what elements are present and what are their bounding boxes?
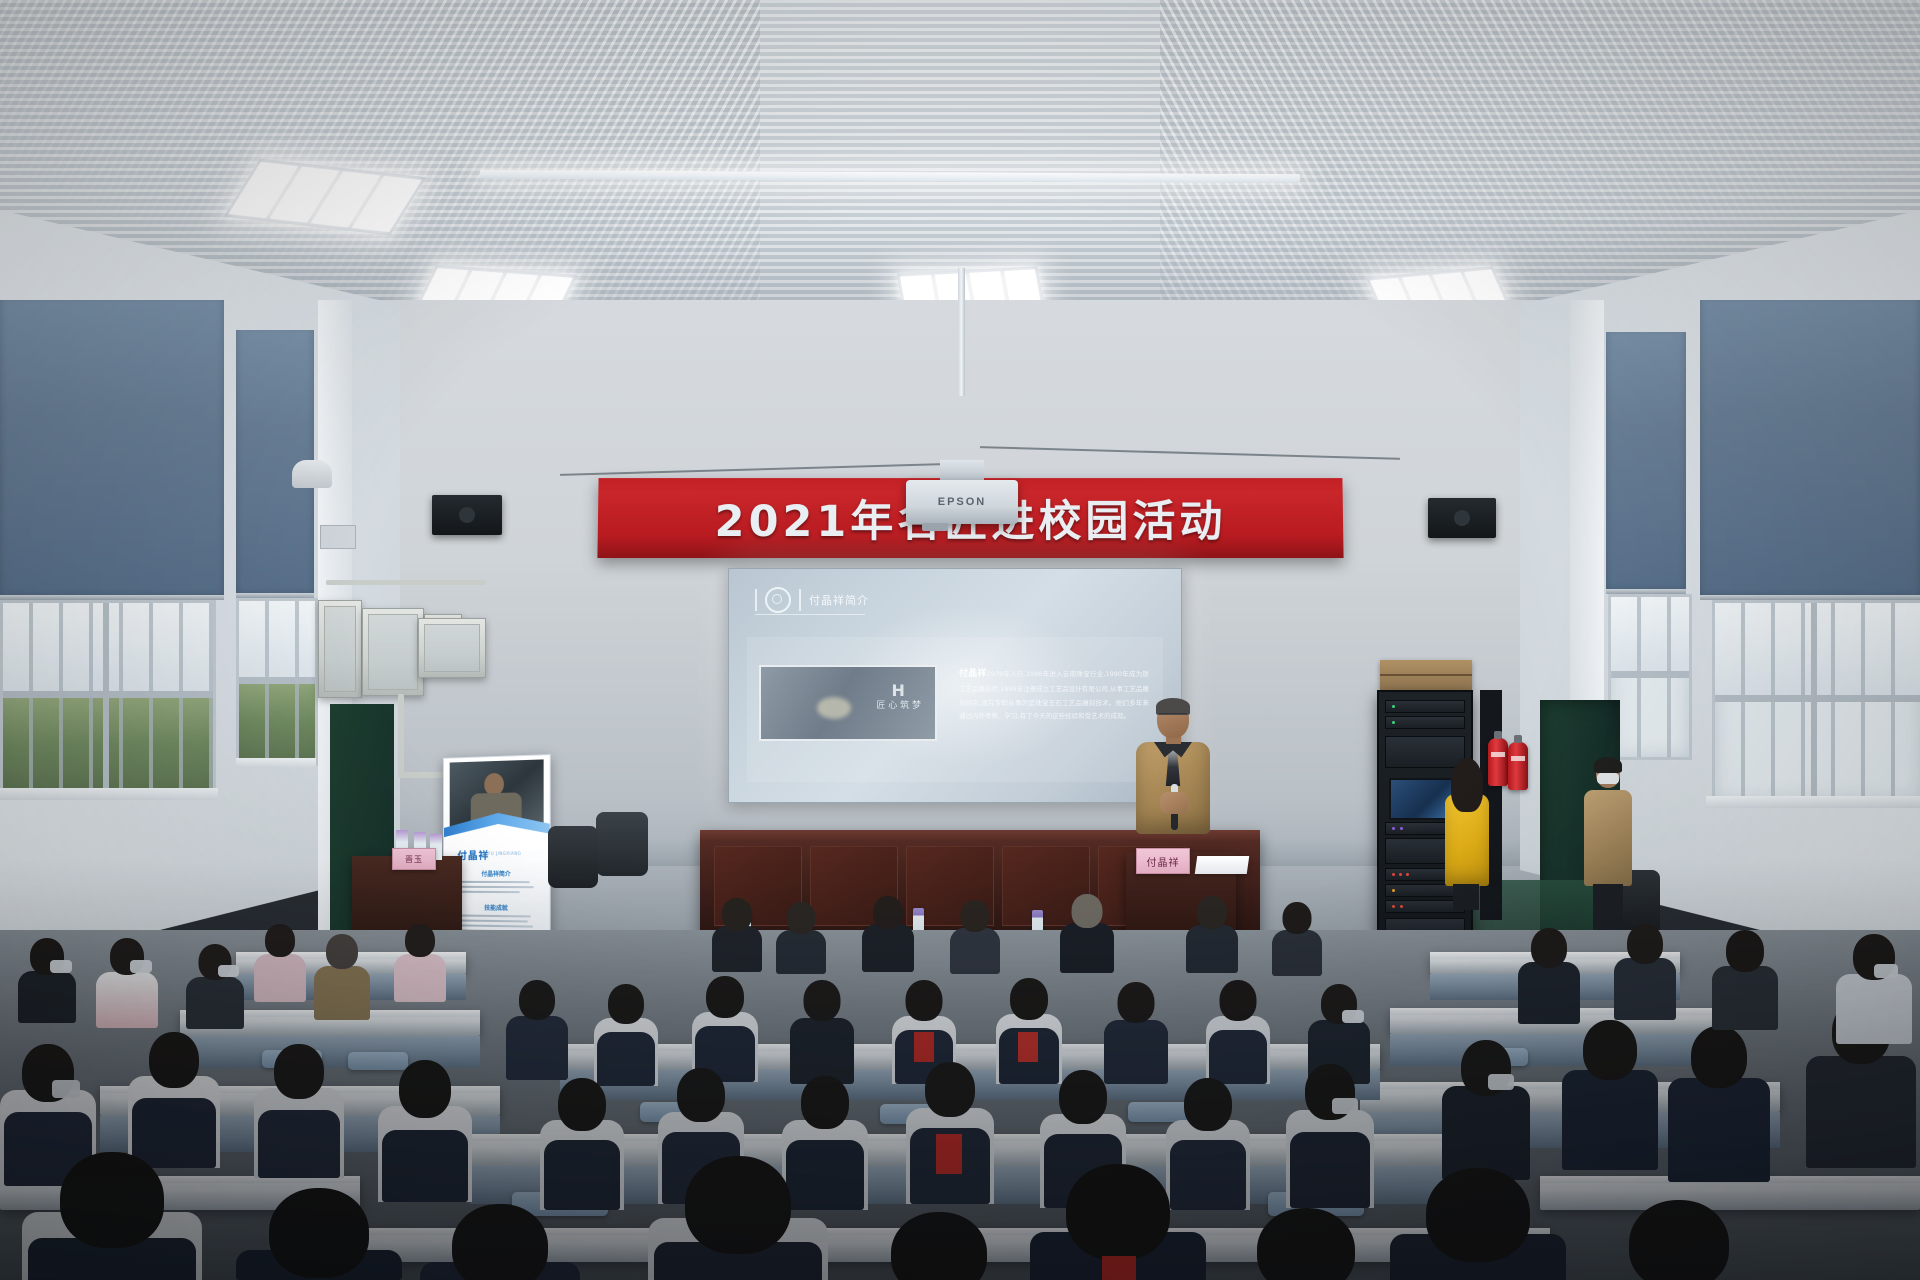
audience-head [405,924,435,957]
audience-member [1442,1040,1530,1180]
electrical-cabinet-1 [318,600,362,698]
audience-member [712,898,762,970]
face-mask-icon [1332,1098,1358,1114]
audience-member [540,1078,624,1210]
audience-body [1186,925,1238,973]
audience-member-front [1390,1168,1566,1280]
window-right-2 [1608,594,1692,760]
audience-head [1220,980,1257,1021]
audience-body [18,971,76,1023]
audience-member-front [22,1152,202,1280]
audience-body [186,977,244,1029]
wall-speaker-right [1428,498,1496,538]
audience-member [378,1060,472,1202]
audience-member [1272,902,1322,974]
audience-head [1118,982,1155,1023]
audience-member [186,944,244,1028]
audience-member [776,902,826,972]
audience-head [722,898,752,931]
audience-body [1562,1070,1658,1170]
audience-body [314,966,370,1020]
audience-head [706,976,744,1018]
audience-member [254,1044,344,1178]
window-sill-left-2 [236,758,316,768]
face-mask-icon [50,960,72,973]
window-sill-right-1 [1706,796,1920,808]
slide-photo-caption-small: 匠 心 筑 梦 [876,701,921,712]
audience-body [776,930,826,974]
audience-head [804,980,841,1021]
projection-screen: 付晶祥简介 H 匠 心 筑 梦 付晶祥1979年入行,1986年进入云南珠宝行业… [728,568,1182,803]
face-mask-icon [1342,1010,1364,1023]
audience-body [506,1016,568,1080]
audience-head [519,980,555,1020]
audience-body [544,1140,620,1210]
window-blind-right-2[interactable] [1606,332,1686,594]
audience-head [558,1078,606,1131]
audience-member [1286,1064,1374,1208]
conduit-vertical [398,694,404,776]
audience-head [873,896,903,929]
conduit-top [326,580,486,585]
electrical-cabinet-4 [418,618,486,678]
audience-head [326,934,358,969]
projector-brand-label: EPSON [938,496,987,508]
audience-member [1668,1026,1770,1182]
slide-photo-highlight [817,697,851,719]
audience-member [1614,924,1676,1020]
audience-body [254,954,306,1002]
audience-head [1066,1164,1170,1260]
audience-body [1806,1056,1916,1168]
audience-member [692,976,758,1082]
audience-head [1059,1070,1107,1124]
rollup-name: 付晶祥 [457,847,489,862]
audience-body [1290,1132,1370,1208]
slide-paragraph: 付晶祥1979年入行,1986年进入云南珠宝行业,1990年成为斯工艺品雕刻师,… [959,665,1149,723]
slide-person-name: 付晶祥 [959,669,987,679]
window-blind-right-1[interactable] [1700,300,1920,600]
audience-head [1691,1026,1747,1088]
audience-head [925,1062,975,1117]
red-scarf [1102,1256,1136,1280]
window-mullion-h [1611,671,1689,678]
slide-photo-caption: H 匠 心 筑 梦 [876,681,921,712]
stage-chair-2 [548,826,598,888]
audience-head [1010,978,1048,1020]
audience-member-front [420,1204,580,1280]
audience-member [254,924,306,1002]
audience-body [862,924,914,972]
audience-member [314,934,370,1020]
stander-hair [1594,757,1622,773]
audience-body [1209,1030,1267,1084]
audience-member [1836,934,1912,1044]
fire-extinguisher-1 [1488,738,1508,786]
window-mullion-h [1715,695,1920,702]
rack-unit [1385,700,1465,713]
slide-header: 付晶祥简介 [755,587,869,613]
presenter-hands [1160,792,1188,814]
placard-text: 晋玉 [405,854,423,865]
fire-extinguisher-2 [1508,742,1528,790]
audience-member [1206,980,1270,1084]
wall-junction-box [320,525,356,549]
audience-body [1060,923,1114,973]
window-blind-left-1[interactable] [0,300,224,600]
electrical-cabinet-2 [362,608,424,696]
audience-head [677,1068,725,1122]
rack-unit [1385,716,1465,729]
audience-member [862,896,914,970]
slide-header-bars-2 [799,589,801,611]
slide-person-bio: 1979年入行,1986年进入云南珠宝行业,1990年成为斯工艺品雕刻师,199… [959,670,1149,720]
av-operator [1443,760,1491,910]
audience-body [1668,1078,1770,1182]
face-mask-icon [52,1080,80,1098]
red-scarf [936,1134,962,1174]
audience-member-front [1030,1164,1206,1280]
audience-member [1060,894,1114,972]
seal-icon [765,587,791,613]
audience-member [1562,1020,1658,1170]
audience-head [685,1156,791,1254]
audience-body [950,928,1000,974]
window-left-1 [0,600,216,796]
rollup-lines-1 [455,881,537,896]
audience-body [394,954,446,1002]
audience-head [1726,930,1764,972]
audience-member-front [860,1212,1018,1280]
audience-head [1583,1020,1637,1080]
window-bars [1715,603,1920,801]
audience-head [787,902,816,934]
audience-head [452,1204,548,1280]
audience-member [1186,896,1238,972]
audience-head [399,1060,451,1118]
audience-member [1104,982,1168,1084]
window-mullion-v [103,603,109,793]
audience-head [1283,902,1312,934]
audience-member [1518,928,1580,1024]
audience-head [1531,928,1567,968]
audience-head [961,900,990,932]
audience-member [950,900,1000,972]
stander-coat [1584,790,1632,886]
cabinet-door [324,606,356,692]
audience-member [594,984,658,1086]
cabinet-door [424,624,480,672]
window-right-1 [1712,600,1920,804]
audience-head [1072,894,1103,928]
audience-body [790,1018,854,1084]
wall-speaker-left [432,495,502,535]
slide-header-bars [755,589,757,611]
audience-head [269,1188,369,1278]
audience-head [1627,924,1663,964]
audience-head [1426,1168,1530,1262]
projector-mount-rod [958,268,965,396]
audience-body [1836,974,1912,1044]
audience-head [60,1152,164,1248]
standing-attendee [1584,760,1632,930]
audience-member [96,938,158,1028]
window-mullion-h [239,677,315,684]
audience-member [506,980,568,1080]
audience-member-front [1226,1208,1386,1280]
operator-hair [1451,758,1483,812]
audience-head [1184,1078,1232,1131]
cabinet-door [368,614,418,690]
audience-head [1629,1200,1729,1280]
window-sill-left-1 [0,788,218,800]
face-mask-icon [1488,1074,1514,1090]
audience-head [149,1032,199,1088]
audience-member [394,924,446,1002]
rollup-name-subtitle: FU JINGXIANG [488,851,521,856]
slide-photo-caption-big: H [876,681,921,701]
face-mask-icon [218,965,239,977]
projector: EPSON [906,480,1018,524]
audience-head [801,1076,849,1129]
audience-member [906,1062,994,1204]
audience-body [1272,930,1322,976]
audience-member [790,980,854,1084]
operator-legs [1453,884,1479,910]
audience-member [128,1032,220,1168]
audience-body [1518,962,1580,1024]
red-scarf [1018,1032,1038,1062]
audience-member [996,978,1062,1084]
slide-title: 付晶祥简介 [809,592,869,608]
wall-horn-speaker [292,460,332,488]
audience-body [96,972,158,1028]
red-scarf [914,1032,934,1062]
audience-member-front [236,1188,402,1280]
slide-photo: H 匠 心 筑 梦 [759,665,937,741]
audience-member [18,938,76,1022]
presenter [1130,700,1216,880]
face-mask-icon [130,960,152,973]
window-left-2 [236,598,318,766]
audience-body [258,1110,340,1178]
audience-head [265,924,295,957]
stage-chair-1 [596,812,648,876]
audience-head [608,984,644,1024]
slide-body: H 匠 心 筑 梦 付晶祥1979年入行,1986年进入云南珠宝行业,1990年… [747,637,1163,782]
face-mask-icon [1874,964,1898,978]
audience-member-front [648,1156,828,1280]
audience-body [1442,1086,1530,1180]
audience-head [1197,896,1227,929]
window-mullion-v [1811,603,1817,801]
audience-body [712,926,762,972]
audience-head [274,1044,324,1099]
audience-member-front [1596,1200,1762,1280]
audience-head [906,980,943,1021]
face-mask-icon [1597,773,1619,784]
lecture-hall-photo: 2021年名匠进校园活动 付晶祥简介 H 匠 心 筑 梦 付晶祥1979年入行,… [0,0,1920,1280]
audience-body [1614,958,1676,1020]
audience-head [1257,1208,1355,1280]
audience-member [1712,930,1778,1030]
cardboard-boxes [1380,660,1472,690]
audience-body [1712,966,1778,1030]
glasses-icon [1159,713,1187,720]
slide-title-rule [755,614,865,615]
audience-head [891,1212,987,1280]
side-podium-placard: 晋玉 [392,848,436,870]
